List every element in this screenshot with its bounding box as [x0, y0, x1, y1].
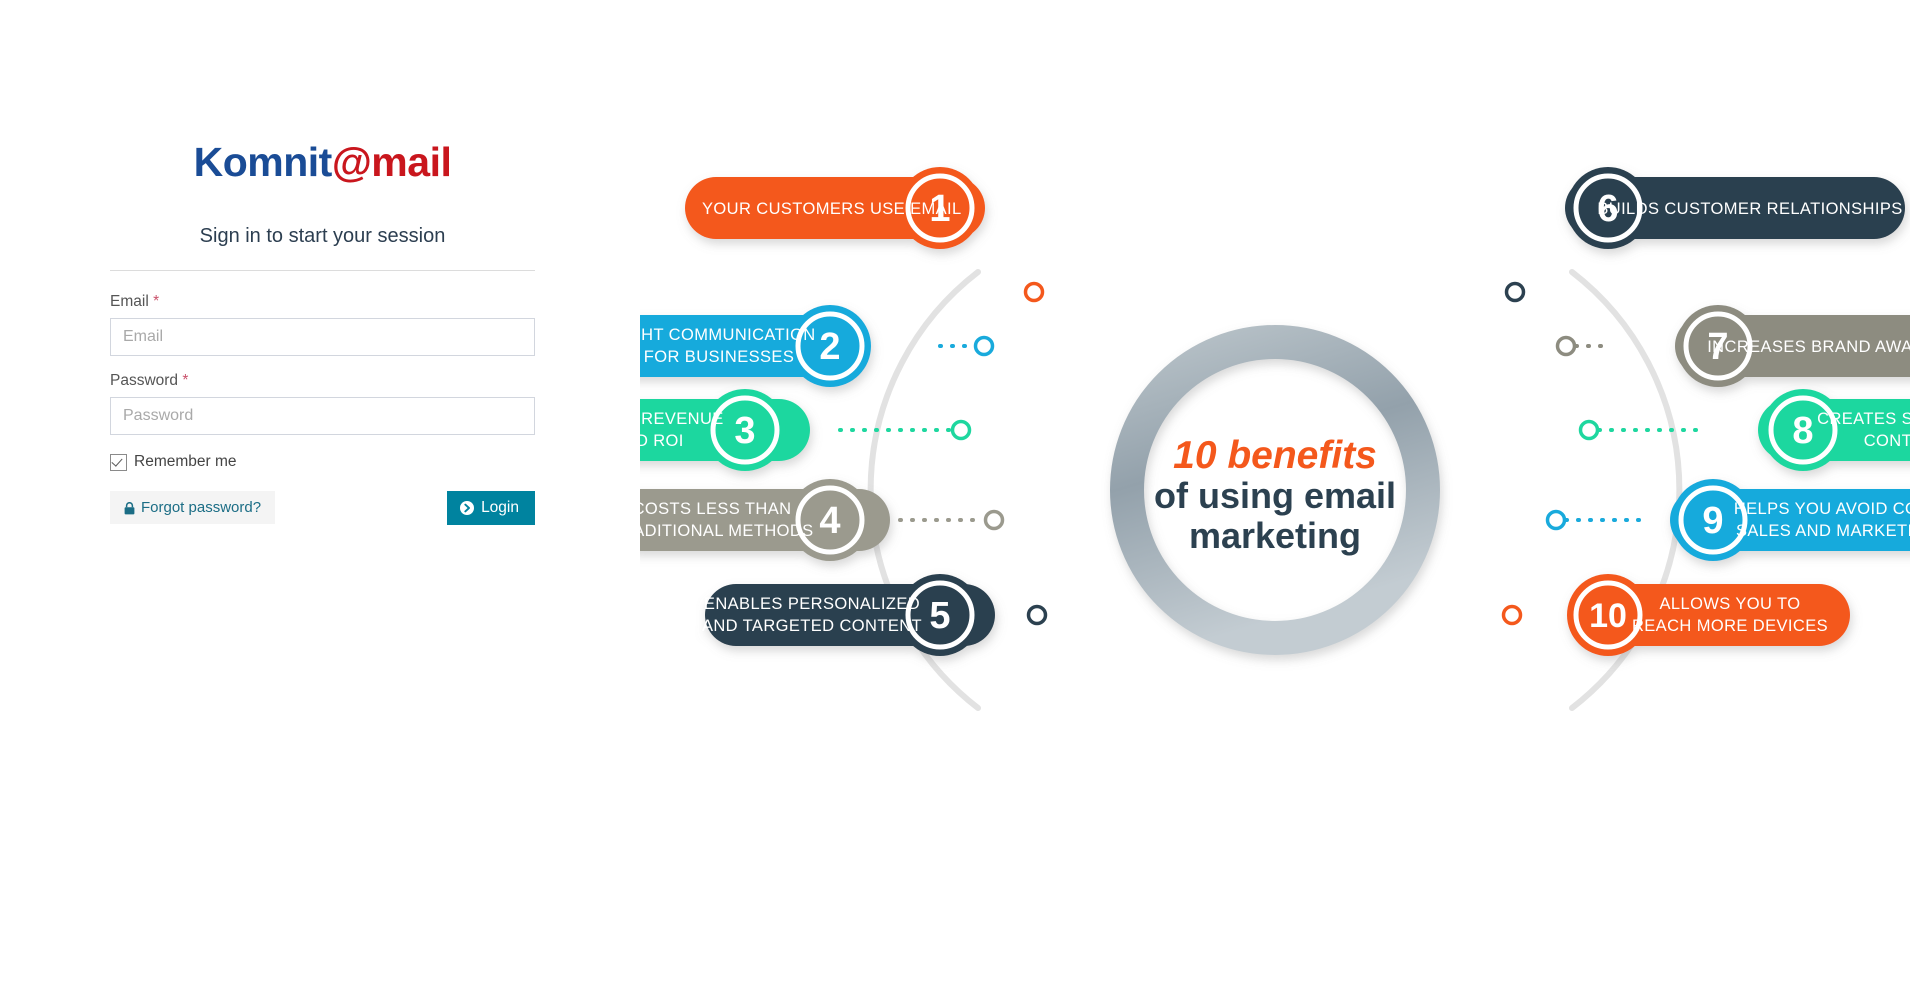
- benefit-item-2[interactable]: 2 IT'S THE RIGHT COMMUNICATION CHANNEL F…: [640, 305, 871, 387]
- email-label: Email *: [110, 293, 535, 311]
- benefit-9-label-line2: SALES AND MARKETING: [1736, 522, 1910, 540]
- connector-3: [840, 422, 970, 439]
- benefit-3-label-line2: AND ROI: [640, 432, 684, 450]
- benefit-4-label-line2: TRADITIONAL METHODS: [640, 522, 814, 540]
- forgot-password-button[interactable]: Forgot password?: [110, 491, 275, 524]
- login-page: Komnit@mail Sign in to start your sessio…: [0, 0, 1920, 993]
- benefit-10-number: 10: [1589, 597, 1627, 635]
- benefit-8-label-line2: CONTENT: [1864, 432, 1910, 450]
- benefit-2-label-line1: IT'S THE RIGHT COMMUNICATION: [640, 326, 816, 344]
- brand-logo: Komnit@mail: [110, 140, 535, 185]
- email-marketing-infographic: 10 benefits of using email marketing: [640, 150, 1910, 830]
- benefit-5-number: 5: [929, 595, 950, 637]
- email-field-group: Email *: [110, 293, 535, 356]
- password-label-text: Password: [110, 372, 178, 389]
- benefit-item-9[interactable]: 9 HELPS YOU AVOID COLD SALES AND MARKETI…: [1670, 479, 1910, 561]
- password-field-group: Password *: [110, 372, 535, 435]
- connector-4: [900, 512, 1003, 529]
- connector-1: [1026, 284, 1043, 301]
- password-label: Password *: [110, 372, 535, 390]
- benefit-4-number: 4: [819, 500, 840, 542]
- benefit-item-1[interactable]: 1 YOUR CUSTOMERS USE EMAIL: [685, 167, 985, 249]
- connector-6: [1507, 284, 1524, 301]
- benefit-10-label-line1: ALLOWS YOU TO: [1660, 595, 1801, 613]
- benefit-5-label-line2: AND TARGETED CONTENT: [702, 617, 922, 635]
- center-text: 10 benefits of using email marketing: [1154, 434, 1396, 556]
- connector-10: [1504, 607, 1521, 624]
- benefit-5-label-line1: ENABLES PERSONALIZED: [704, 595, 920, 613]
- brand-name-primary: Komnit: [194, 139, 332, 185]
- benefit-item-7[interactable]: 7 INCREASES BRAND AWARENESS: [1675, 305, 1910, 387]
- connector-2: [940, 338, 993, 355]
- benefit-item-8[interactable]: 8 CREATES SHARABLE CONTENT: [1758, 389, 1910, 471]
- center-title-line1: 10 benefits: [1173, 434, 1377, 477]
- benefit-2-label-line2: CHANNEL FOR BUSINESSES: [640, 348, 794, 366]
- password-input[interactable]: [110, 397, 535, 435]
- password-required-mark: *: [182, 372, 188, 389]
- benefit-item-5[interactable]: 5 ENABLES PERSONALIZED AND TARGETED CONT…: [702, 574, 995, 656]
- benefit-item-10[interactable]: 10 ALLOWS YOU TO REACH MORE DEVICES: [1567, 574, 1850, 656]
- lock-icon: [124, 502, 135, 514]
- benefit-10-label-line2: REACH MORE DEVICES: [1632, 617, 1828, 635]
- benefit-2-number: 2: [819, 326, 840, 368]
- remember-me-label: Remember me: [134, 453, 237, 471]
- benefit-3-number: 3: [734, 410, 755, 452]
- login-panel: Komnit@mail Sign in to start your sessio…: [110, 140, 535, 525]
- login-button-label: Login: [481, 500, 519, 516]
- benefit-4-label-line1: COSTS LESS THAN: [640, 500, 791, 518]
- benefit-item-4[interactable]: 4 COSTS LESS THAN TRADITIONAL METHODS: [640, 479, 890, 561]
- benefit-8-number: 8: [1792, 410, 1813, 452]
- benefit-item-6[interactable]: 6 BUILDS CUSTOMER RELATIONSHIPS: [1565, 167, 1905, 249]
- center-title-line3: marketing: [1189, 515, 1361, 556]
- connector-9: [1548, 512, 1641, 529]
- email-label-text: Email: [110, 293, 149, 310]
- connector-5: [1029, 607, 1046, 624]
- benefit-1-label-line1: YOUR CUSTOMERS USE EMAIL: [702, 200, 962, 218]
- benefit-3-label-line1: DRIVES REVENUE: [640, 410, 724, 428]
- panel-divider: [110, 270, 535, 271]
- benefit-7-label-line1: INCREASES BRAND AWARENESS: [1707, 338, 1910, 356]
- brand-name-secondary: @mail: [332, 139, 452, 185]
- benefit-6-label-line1: BUILDS CUSTOMER RELATIONSHIPS: [1597, 200, 1902, 218]
- benefit-9-number: 9: [1702, 500, 1723, 542]
- connector-8: [1581, 422, 1701, 439]
- forgot-password-label: Forgot password?: [141, 500, 261, 515]
- center-title-line2: of using email: [1154, 475, 1396, 516]
- connector-7: [1558, 338, 1613, 355]
- benefit-8-label-line1: CREATES SHARABLE: [1817, 410, 1910, 428]
- arrow-circle-right-icon: [460, 501, 474, 515]
- form-actions: Forgot password? Login: [110, 491, 535, 525]
- benefit-9-label-line1: HELPS YOU AVOID COLD: [1734, 500, 1910, 518]
- benefit-item-3[interactable]: 3 DRIVES REVENUE AND ROI: [640, 389, 810, 471]
- email-required-mark: *: [153, 293, 159, 310]
- email-input[interactable]: [110, 318, 535, 356]
- login-button[interactable]: Login: [447, 491, 535, 525]
- remember-me-row[interactable]: Remember me: [110, 453, 535, 471]
- remember-me-checkbox[interactable]: [110, 454, 127, 471]
- signin-heading: Sign in to start your session: [110, 225, 535, 248]
